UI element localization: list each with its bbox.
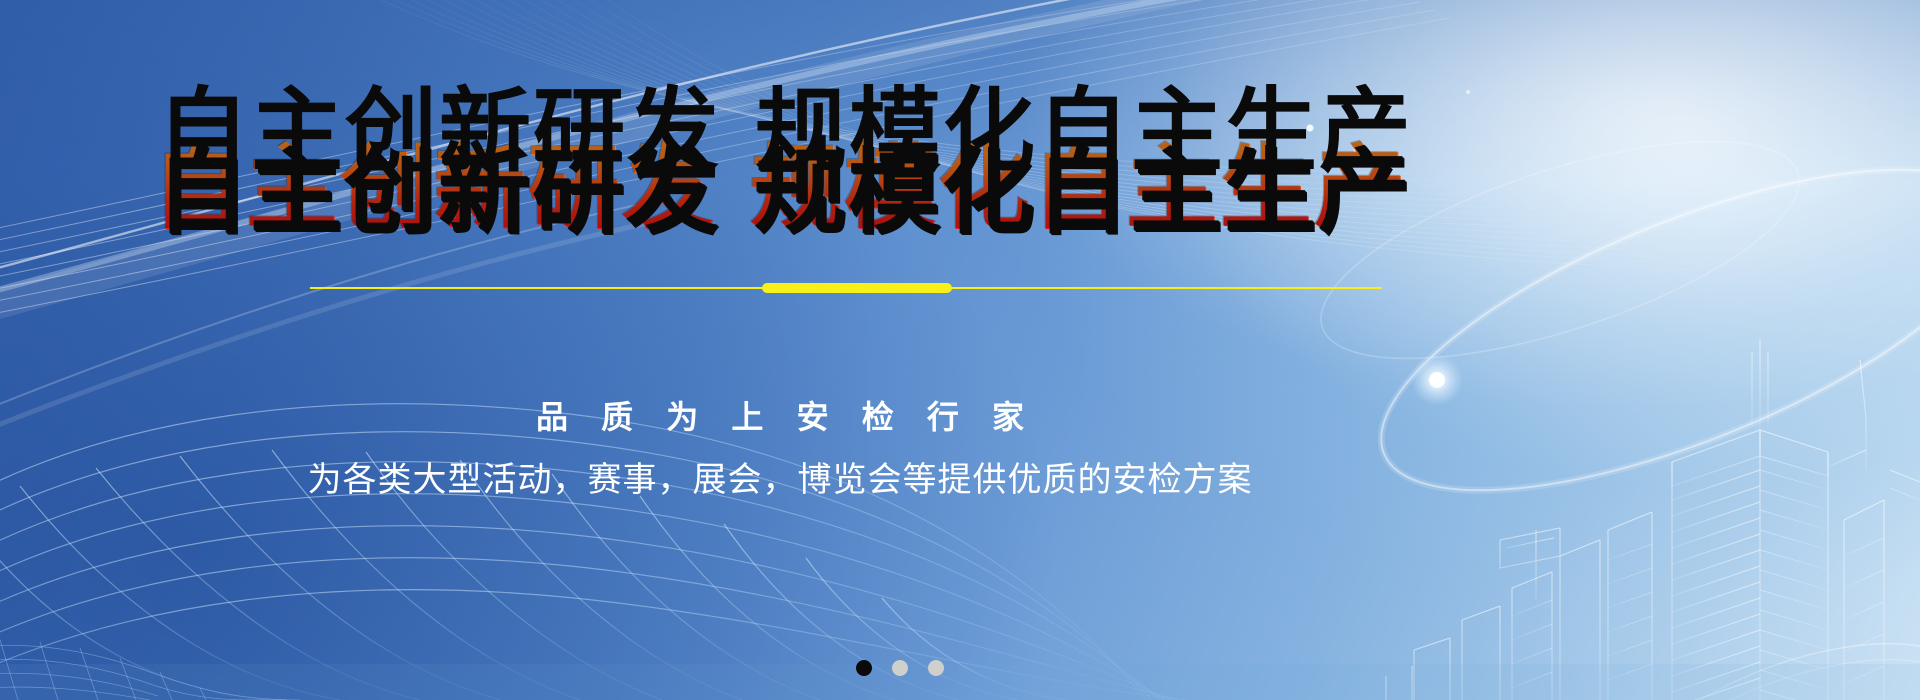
carousel-pagination[interactable] — [0, 660, 1800, 676]
carousel-dot-1[interactable] — [856, 660, 872, 676]
subtitle-primary: 品 质 为 上 安 检 行 家 — [0, 392, 1560, 438]
carousel-dot-2[interactable] — [892, 660, 908, 676]
hero-banner: 自主创新研发 规模化自主生产 自主创新研发 规模化自主生产 品 质 为 上 安 … — [0, 0, 1920, 700]
main-title-shadow: 自主创新研发 规模化自主生产 — [0, 78, 1560, 176]
subtitle-secondary: 为各类大型活动，赛事，展会，博览会等提供优质的安检方案 — [0, 452, 1560, 501]
main-title-shadow-text: 自主创新研发 规模化自主生产 — [157, 83, 1413, 181]
title-divider — [0, 282, 1560, 294]
carousel-dot-3[interactable] — [928, 660, 944, 676]
divider-accent-bar — [762, 283, 952, 293]
banner-content: 自主创新研发 规模化自主生产 自主创新研发 规模化自主生产 品 质 为 上 安 … — [0, 0, 1920, 700]
